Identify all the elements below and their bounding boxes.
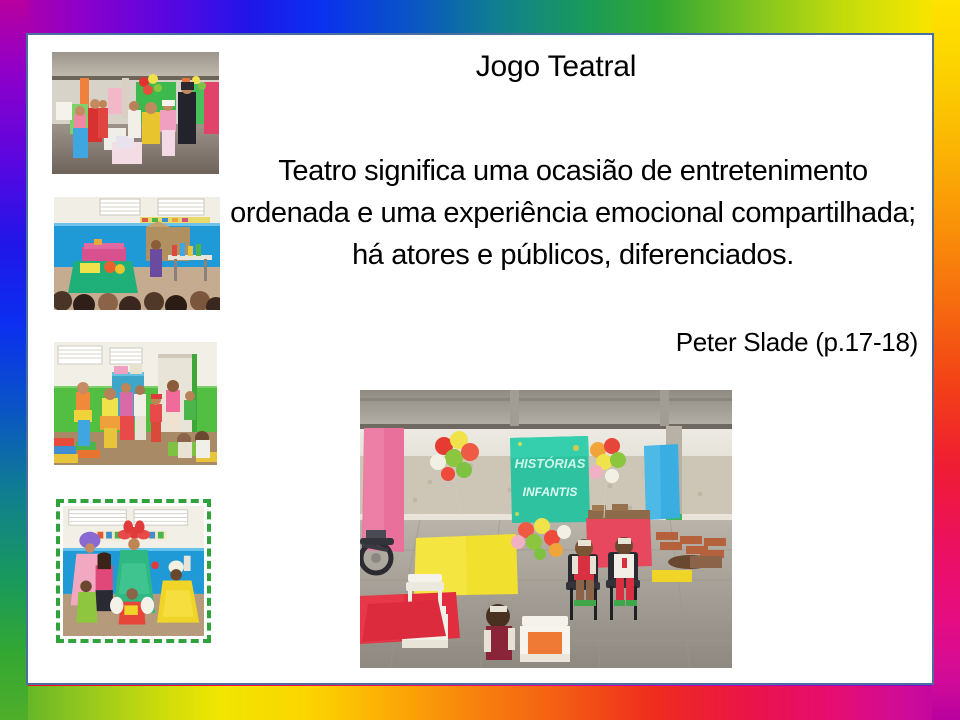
thumbnail-photo-2 (54, 197, 220, 310)
banner-text-line1: HISTÓRIAS (515, 456, 586, 471)
banner-text-line2: INFANTIS (523, 485, 578, 499)
quote-text: Teatro significa uma ocasião de entreten… (228, 150, 918, 276)
rainbow-border-left (0, 0, 28, 720)
quote-attribution: Peter Slade (p.17-18) (408, 327, 918, 358)
thumbnail-photo-3 (54, 342, 217, 465)
thumbnail-photo-4-inner (63, 506, 204, 636)
thumbnail-photo-1 (52, 52, 219, 174)
thumbnail-photo-4 (56, 499, 211, 643)
white-chair-right (520, 616, 570, 662)
slide: Jogo Teatral Teatro significa uma ocasiã… (0, 0, 960, 720)
main-photo: HISTÓRIAS INFANTIS (360, 390, 732, 668)
rainbow-border-top (0, 0, 960, 34)
slide-title: Jogo Teatral (346, 50, 766, 84)
rainbow-border-right (932, 0, 960, 720)
slide-canvas: Jogo Teatral Teatro significa uma ocasiã… (26, 33, 934, 685)
rainbow-border-bottom (0, 686, 960, 720)
